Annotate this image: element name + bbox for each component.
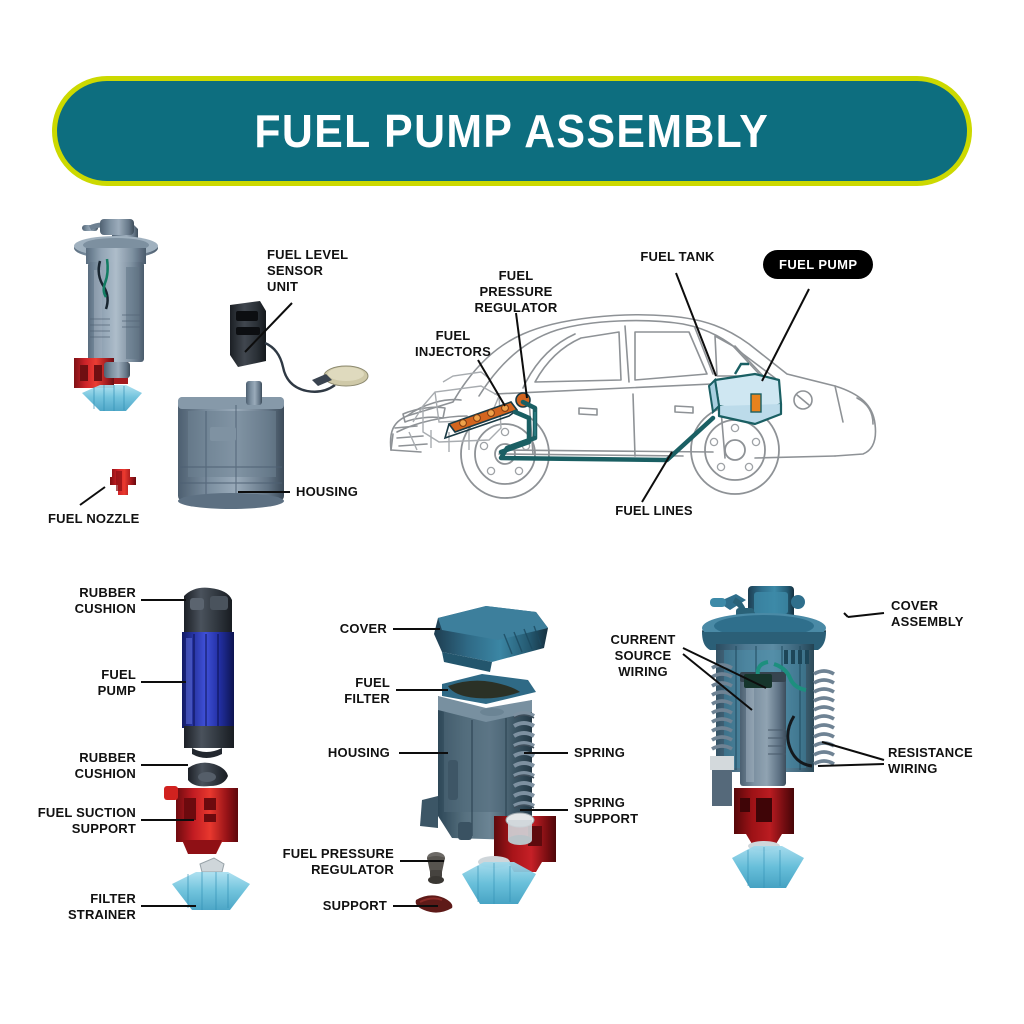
assembled-fuel-pump-art (690, 580, 870, 920)
label-fuel-suction-support: FUEL SUCTION SUPPORT (20, 805, 136, 837)
housing-assembly-art (408, 600, 598, 920)
label-fuel-pressure-regulator-car: FUEL PRESSURE REGULATOR (466, 268, 566, 316)
label-cover: COVER (295, 621, 387, 637)
page-title: FUEL PUMP ASSEMBLY (255, 104, 770, 158)
label-resistance-wiring: RESISTANCE WIRING (888, 745, 998, 777)
pump-exploded-art (160, 582, 290, 922)
label-current-source-wiring: CURRENT SOURCE WIRING (600, 632, 686, 680)
assembled-module-art (690, 580, 870, 920)
label-fuel-lines: FUEL LINES (604, 503, 704, 519)
label-spring: SPRING (574, 745, 664, 761)
label-rubber-cushion-bottom: RUBBER CUSHION (36, 750, 136, 782)
label-fuel-tank: FUEL TANK (625, 249, 730, 265)
diagram-page: FUEL PUMP ASSEMBLY (0, 0, 1024, 1024)
label-fuel-injectors: FUEL INJECTORS (405, 328, 501, 360)
label-fuel-pressure-regulator-part: FUEL PRESSURE REGULATOR (272, 846, 394, 878)
page-title-banner: FUEL PUMP ASSEMBLY (52, 76, 972, 186)
label-support: SUPPORT (295, 898, 387, 914)
housing-exploded-art (408, 600, 598, 920)
label-fuel-filter: FUEL FILTER (295, 675, 390, 707)
label-fuel-level-sensor-unit: FUEL LEVEL SENSOR UNIT (267, 247, 377, 295)
fuel-pump-internal-art (160, 582, 290, 922)
label-fuel-pump-part: FUEL PUMP (36, 667, 136, 699)
vehicle-fuel-system-art (383, 282, 883, 522)
label-rubber-cushion-top: RUBBER CUSHION (36, 585, 136, 617)
car-line-drawing (383, 282, 883, 522)
label-spring-support: SPRING SUPPORT (574, 795, 669, 827)
label-filter-strainer: FILTER STRAINER (36, 891, 136, 923)
label-fuel-nozzle: FUEL NOZZLE (48, 511, 168, 527)
label-cover-assembly: COVER ASSEMBLY (891, 598, 995, 630)
label-fuel-pump-badge: FUEL PUMP (763, 250, 873, 279)
label-housing-center: HOUSING (285, 745, 390, 761)
